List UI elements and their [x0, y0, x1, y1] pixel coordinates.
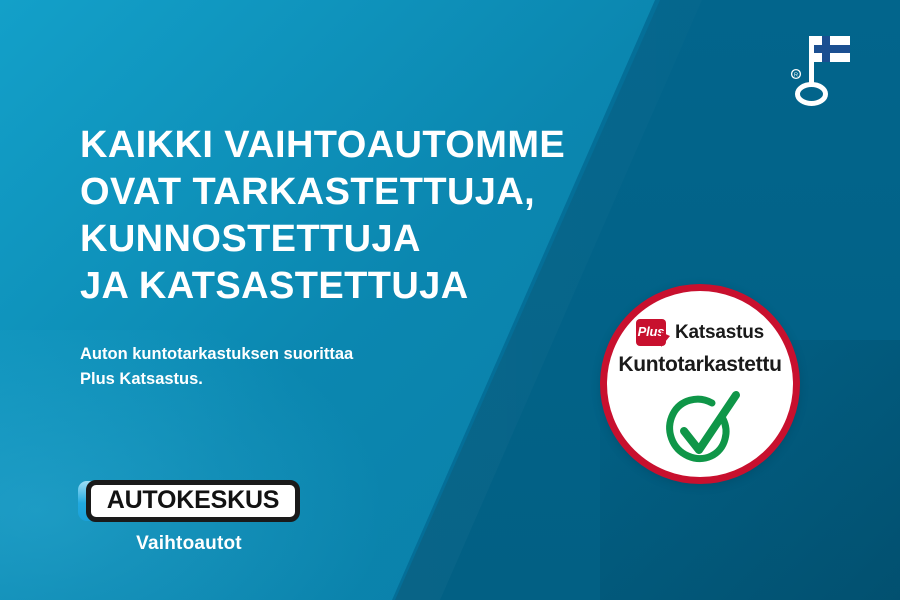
- logo-plate: AUTOKESKUS: [78, 480, 300, 522]
- registered-trademark-icon: R: [792, 70, 801, 79]
- promo-banner: R KAIKKI VAIHTOAUTOMME OVAT TARKASTETTUJ…: [0, 0, 900, 600]
- autokeskus-logo[interactable]: AUTOKESKUS Vaihtoautot: [78, 480, 318, 555]
- plus-katsastus-badge: Plus Katsastus Kuntotarkastettu: [600, 284, 800, 484]
- subtitle-line-1: Auton kuntotarkastuksen suorittaa: [80, 342, 500, 367]
- badge-brand-row: Plus Katsastus: [607, 319, 793, 346]
- headline-line-3: KUNNOSTETTUJA: [80, 216, 680, 263]
- badge-check-wrap: [607, 387, 793, 471]
- subtitle-line-2: Plus Katsastus.: [80, 367, 500, 392]
- green-check-circle-icon: [654, 387, 746, 471]
- logo-wordmark: AUTOKESKUS: [107, 488, 280, 513]
- headline-line-2: OVAT TARKASTETTUJA,: [80, 169, 680, 216]
- logo-plate-body: AUTOKESKUS: [86, 480, 300, 522]
- avainlippu-key-flag-icon: R: [780, 22, 866, 108]
- plus-logo-tail: [661, 332, 670, 347]
- badge-status-text: Kuntotarkastettu: [607, 353, 793, 377]
- logo-sub-label: Vaihtoautot: [78, 533, 300, 555]
- headline-line-4: JA KATSASTETTUJA: [80, 263, 680, 310]
- plus-logo-icon: Plus: [636, 319, 670, 346]
- headline-line-1: KAIKKI VAIHTOAUTOMME: [80, 122, 680, 169]
- subtitle: Auton kuntotarkastuksen suorittaa Plus K…: [80, 342, 500, 392]
- svg-text:R: R: [794, 73, 798, 79]
- badge-brand-word: Katsastus: [675, 322, 764, 344]
- page-title: KAIKKI VAIHTOAUTOMME OVAT TARKASTETTUJA,…: [80, 122, 680, 310]
